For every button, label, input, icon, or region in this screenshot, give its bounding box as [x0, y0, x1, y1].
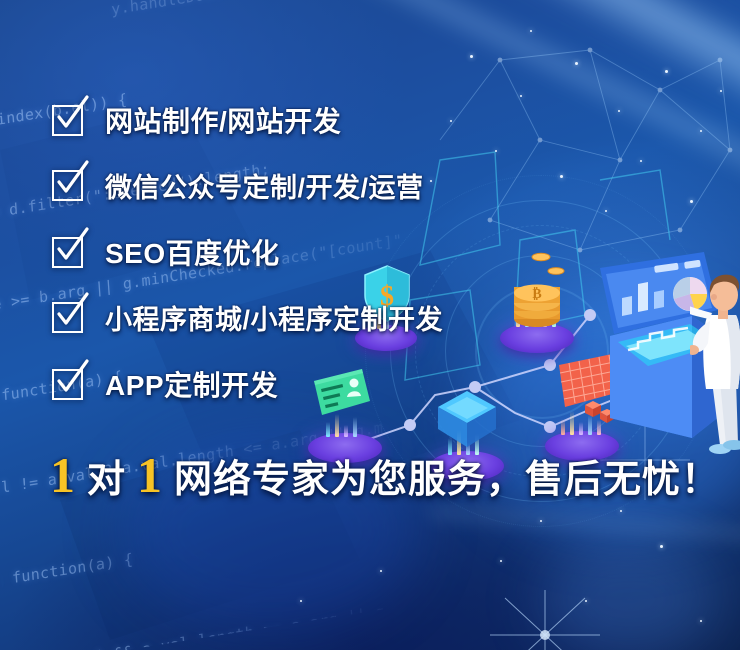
- promo-banner: y.handleDoubleFill("input[type=checkbox]…: [0, 0, 740, 650]
- light-beam: [315, 0, 740, 141]
- feature-label: 微信公众号定制/开发/运营: [105, 166, 424, 205]
- checkbox-checked-icon[interactable]: [52, 369, 83, 400]
- coin-stack-icon: ₿: [500, 249, 574, 327]
- sparkle-burst: [490, 590, 600, 650]
- feature-item-miniprogram[interactable]: 小程序商城/小程序定制开发: [52, 298, 443, 337]
- headline-rest-text: 网络专家为您服务，售后无忧！: [174, 461, 720, 499]
- feature-label: 网站制作/网站开发: [105, 100, 341, 140]
- id-card-icon: [310, 367, 380, 425]
- code-line: y.handleDoubleFill("input[type=checkbox]…: [111, 0, 517, 18]
- feature-item-website[interactable]: 网站制作/网站开发: [52, 100, 341, 140]
- light-beam: [430, 505, 740, 549]
- feature-item-app[interactable]: APP定制开发: [52, 364, 278, 404]
- checkbox-checked-icon[interactable]: [52, 237, 83, 268]
- checkbox-checked-icon[interactable]: [52, 170, 83, 201]
- ambient-glow: [540, 540, 720, 650]
- feature-label: SEO百度优化: [105, 232, 280, 272]
- constellation-network: [430, 20, 740, 270]
- checkbox-checked-icon[interactable]: [52, 302, 83, 333]
- person-operator: [690, 263, 740, 473]
- chip-icon: [430, 385, 504, 455]
- headline-number-first: 1: [50, 450, 75, 500]
- feature-label: 小程序商城/小程序定制开发: [105, 298, 443, 337]
- code-line: null != a.val && a.val.length >= a.arg |…: [0, 576, 561, 650]
- feature-label: APP定制开发: [105, 364, 278, 404]
- headline-slogan: 1 对 1 网络专家为您服务，售后无忧！: [50, 450, 720, 500]
- checkbox-checked-icon[interactable]: [52, 105, 83, 136]
- feature-item-seo[interactable]: SEO百度优化: [52, 232, 280, 272]
- feature-item-wechat[interactable]: 微信公众号定制/开发/运营: [52, 166, 424, 205]
- headline-middle-word: 对: [87, 461, 125, 499]
- headline-number-second: 1: [137, 450, 162, 500]
- person-in-lab-coat-icon: [690, 263, 740, 473]
- svg-text:₿: ₿: [532, 286, 541, 302]
